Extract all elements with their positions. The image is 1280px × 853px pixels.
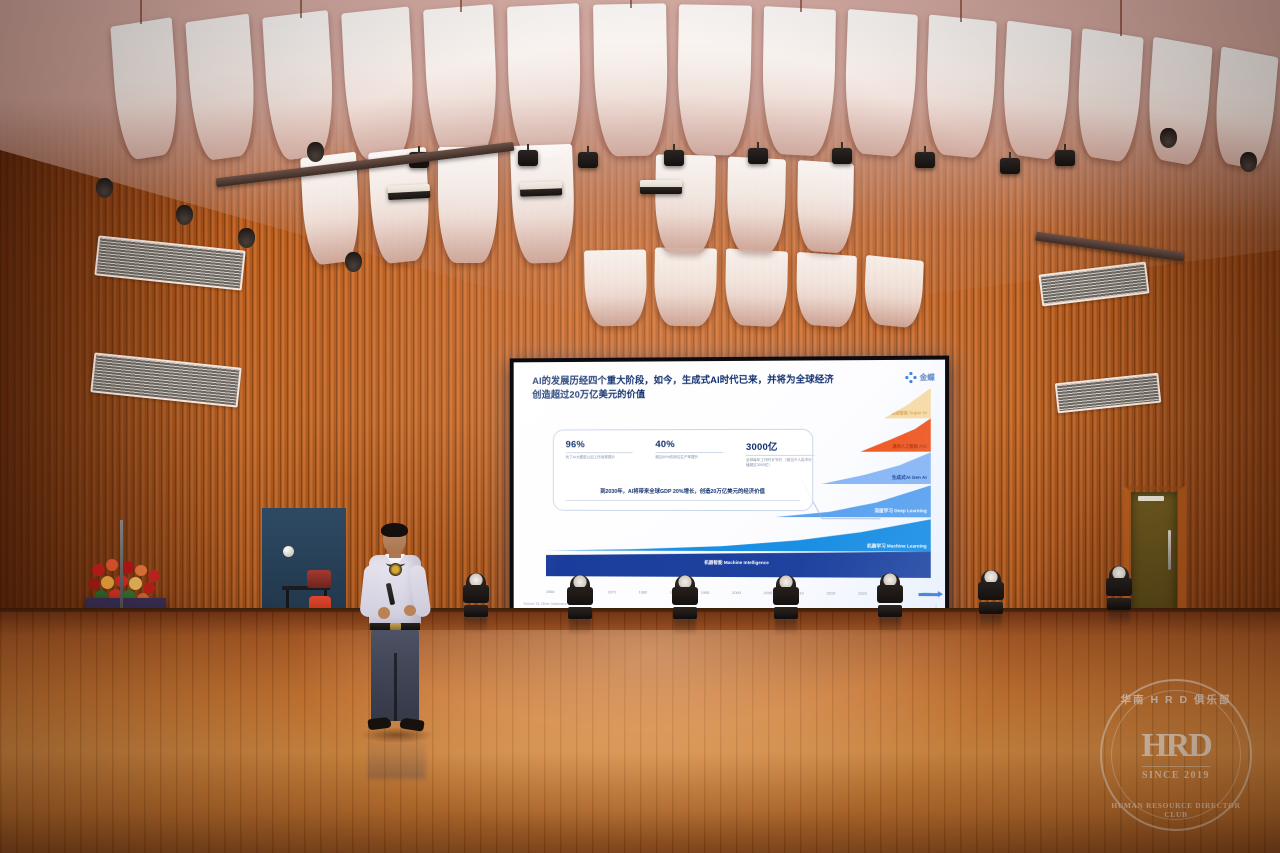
acoustic-panel (584, 249, 647, 326)
watermark-bottom-text: HUMAN RESOURCE DIRECTOR CLUB (1102, 801, 1250, 819)
acoustic-panel (654, 247, 717, 326)
acoustic-panel (185, 14, 258, 163)
stage-light-fixture (176, 205, 193, 225)
presenter-hand-right (404, 605, 416, 616)
moving-head-light (567, 575, 593, 619)
acoustic-panel (423, 4, 499, 160)
moving-head-light (978, 570, 1004, 614)
acoustic-panel (110, 17, 181, 162)
stage-light-fixture (96, 178, 113, 198)
stat-value: 96% (566, 439, 633, 450)
presenter-leg-gap (394, 653, 397, 721)
acoustic-panel (593, 3, 669, 156)
stage-light-fixture (388, 184, 431, 200)
stats-row: 96% 有了AI大模型以后工作效率提升 40% 超过60%的岗位生产率提升 30… (566, 439, 815, 469)
acoustic-panel (761, 6, 835, 157)
panel-suspension-rod (630, 0, 632, 8)
acoustic-panel (843, 9, 918, 158)
chart-band-label: 机器学习 Machine Learning (867, 543, 927, 549)
moving-head-light (877, 573, 903, 617)
presenter-belt-buckle (390, 623, 401, 630)
acoustic-panel (438, 147, 498, 263)
chart-band-label: 超级智能 Super AI (891, 410, 927, 416)
watermark-inner: HRD SINCE 2019 (1122, 701, 1230, 809)
stage-scene: HRD AI的发展历经四个重大阶段，如今，生成式AI时代已来，并将为全球经济 创… (0, 0, 1280, 853)
watermark-since: SINCE 2019 (1142, 766, 1210, 781)
door-frame (1124, 486, 1186, 622)
acoustic-panel (726, 156, 786, 253)
stat-divider (655, 452, 723, 453)
stage-light-fixture (518, 150, 538, 166)
axis-tick: 1995 (701, 590, 710, 595)
presenter-hair (381, 523, 408, 537)
acoustic-panel (796, 160, 853, 254)
equipment-bag (307, 570, 331, 588)
acoustic-panel (863, 255, 924, 329)
slide-title-line2: 创造超过20万亿美元的价值 (532, 386, 860, 401)
stage-light-fixture (1160, 128, 1177, 148)
axis-tick: 1960 (546, 589, 554, 594)
stat-value: 3000亿 (746, 439, 814, 453)
stage-light-fixture (345, 252, 362, 272)
axis-tick: 1980 (639, 590, 648, 595)
acoustic-panel (725, 248, 788, 327)
acoustic-panel (676, 4, 752, 155)
chart-x-axis: 1960 1965 1972 1980 1990 1995 2000 2005 … (546, 589, 931, 596)
acoustic-panel (924, 14, 996, 159)
stat-note: 有了AI大模型以后工作效率提升 (566, 455, 633, 460)
panel-suspension-rod (1120, 0, 1122, 36)
stat-item: 40% 超过60%的岗位生产率提升 (655, 439, 723, 469)
stage-light-fixture (307, 142, 324, 162)
moving-head-light (463, 573, 489, 617)
stage-light-fixture (832, 148, 852, 164)
acoustic-panel (341, 6, 416, 161)
chart-band-label: 机器智能 Machine Intelligence (704, 560, 769, 566)
hrd-club-watermark: 华南 H R D 俱乐部 HRD SINCE 2019 HUMAN RESOUR… (1100, 679, 1252, 831)
moving-head-light (1106, 566, 1132, 610)
stat-item: 96% 有了AI大模型以后工作效率提升 (566, 439, 633, 469)
stat-item: 3000亿 全球每年工作时长节约 （相当于人民币价值超过3000亿） (746, 439, 814, 469)
stat-value: 40% (655, 439, 723, 450)
equipment-pole (120, 520, 123, 620)
acoustic-panel (1075, 28, 1144, 164)
stage-light-fixture (1055, 150, 1075, 166)
stage-light-fixture (520, 181, 562, 196)
panel-suspension-rod (800, 0, 802, 12)
acoustic-panel (262, 10, 336, 162)
chart-band-label: 通用人工智能 AGI (892, 444, 926, 450)
stage-light-fixture (1240, 152, 1257, 172)
chart-band-label: 深度学习 Deep Learning (874, 508, 926, 514)
slide-title-line1: AI的发展历经四个重大阶段，如今，生成式AI时代已来，并将为全球经济 (532, 372, 860, 388)
stats-summary: 到2030年，AI将带来全球GDP 20%增长，创造20万亿美元的经济价值 (566, 487, 801, 501)
chart-band-label: 生成式AI Gen AI (892, 475, 927, 481)
axis-tick: 2000 (732, 590, 741, 595)
stat-divider (566, 452, 633, 453)
stage-light-fixture (748, 148, 768, 164)
panel-suspension-rod (300, 0, 302, 18)
chart-band-machine-intelligence: 机器智能 Machine Intelligence (546, 550, 931, 578)
presenter-badge (389, 563, 402, 576)
brand-logo: 金蝶 (905, 372, 935, 383)
axis-direction-arrow-icon (919, 593, 939, 596)
acoustic-panel (507, 3, 582, 159)
door-handle[interactable] (1168, 530, 1171, 570)
presenter-hand-left (378, 607, 390, 619)
door-top-light (1138, 496, 1164, 501)
watermark-monogram: HRD (1141, 729, 1211, 763)
acoustic-panel (796, 252, 857, 328)
stat-note: 超过60%的岗位生产率提升 (655, 455, 723, 460)
moving-head-light (773, 575, 799, 619)
brand-dots-icon (905, 372, 916, 383)
panel-suspension-rod (460, 0, 462, 12)
stage-light-fixture (578, 152, 598, 168)
stage-light-fixture (1000, 158, 1020, 174)
stage-light-fixture (238, 228, 255, 248)
axis-tick: 2015 (827, 591, 836, 596)
stage-light-fixture (915, 152, 935, 168)
stats-card: 96% 有了AI大模型以后工作效率提升 40% 超过60%的岗位生产率提升 30… (553, 429, 813, 511)
stage-light-fixture (640, 180, 682, 194)
slide-source-note: Source: Dr. Oliver Gassmann (523, 602, 566, 606)
side-stage-curtain (262, 508, 346, 620)
presenter (352, 525, 438, 740)
presenter-floor-reflection (368, 733, 426, 779)
stat-note: 全球每年工作时长节约 （相当于人民币价值超过3000亿） (746, 458, 814, 469)
axis-tick: 1972 (608, 589, 617, 594)
axis-tick: 2005 (764, 590, 773, 595)
chart-band-machine-learning: 机器学习 Machine Learning (546, 517, 931, 552)
stage-light-fixture (664, 150, 684, 166)
acoustic-panel (654, 154, 716, 253)
lamp-orb (283, 546, 294, 557)
acoustic-panel (1145, 37, 1213, 168)
stat-divider (746, 455, 814, 456)
panel-suspension-rod (140, 0, 142, 24)
acoustic-panel (1000, 20, 1071, 161)
panel-suspension-rod (960, 0, 962, 22)
moving-head-light (672, 575, 698, 619)
brand-name: 金蝶 (920, 372, 935, 383)
slide-title: AI的发展历经四个重大阶段，如今，生成式AI时代已来，并将为全球经济 创造超过2… (532, 372, 860, 401)
axis-tick: 2020 (858, 591, 867, 596)
